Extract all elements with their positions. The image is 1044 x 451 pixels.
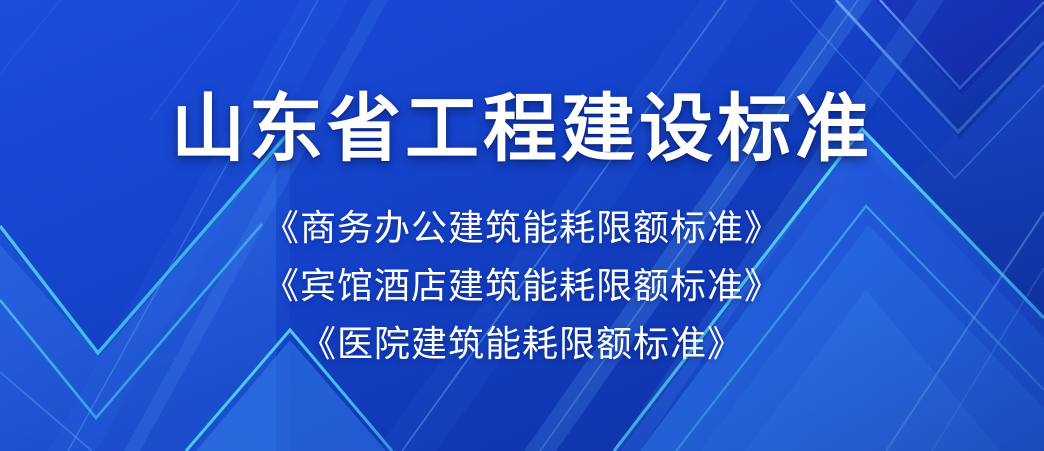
- standard-list: 《商务办公建筑能耗限额标准》 《宾馆酒店建筑能耗限额标准》 《医院建筑能耗限额标…: [263, 200, 781, 374]
- page-title: 山东省工程建设标准: [171, 92, 873, 166]
- list-item: 《宾馆酒店建筑能耗限额标准》: [263, 258, 781, 316]
- standards-banner: 山东省工程建设标准 《商务办公建筑能耗限额标准》 《宾馆酒店建筑能耗限额标准》 …: [0, 0, 1044, 451]
- banner-content: 山东省工程建设标准 《商务办公建筑能耗限额标准》 《宾馆酒店建筑能耗限额标准》 …: [0, 0, 1044, 451]
- list-item: 《商务办公建筑能耗限额标准》: [263, 200, 781, 258]
- list-item: 《医院建筑能耗限额标准》: [300, 316, 744, 374]
